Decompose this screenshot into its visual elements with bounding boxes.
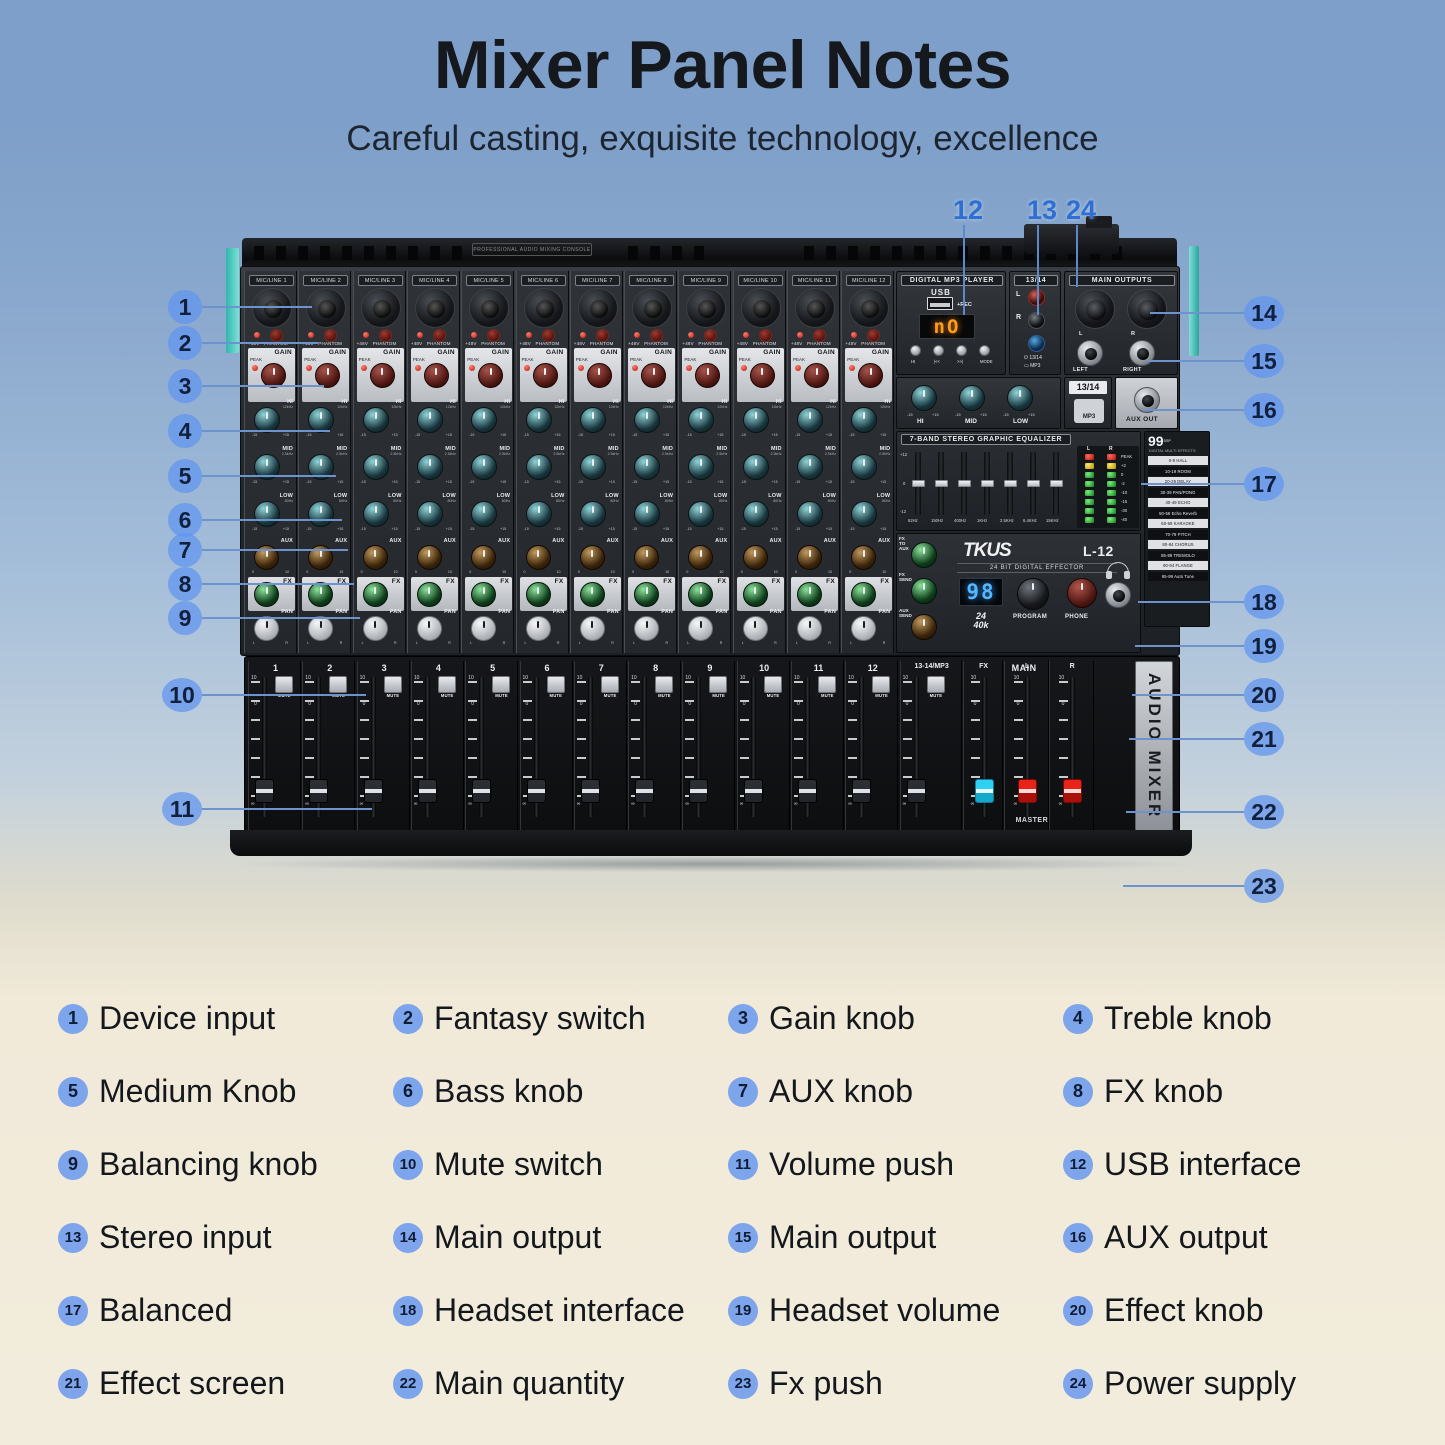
fader-channel-label: 9 xyxy=(683,663,736,673)
master-eq-mid-knob[interactable] xyxy=(959,385,985,411)
eq-hi-knob[interactable] xyxy=(417,407,443,433)
eq-low-knob[interactable] xyxy=(308,501,334,527)
knob-indicator-mark xyxy=(429,412,431,419)
pan-knob[interactable] xyxy=(851,616,876,641)
mute-switch[interactable] xyxy=(764,676,782,693)
gain-knob[interactable] xyxy=(695,363,720,388)
knob-indicator-mark xyxy=(863,587,865,594)
mp3-led-value: nO xyxy=(934,316,961,338)
fader-tick xyxy=(305,757,314,759)
fx-label: FX xyxy=(663,578,672,585)
fx-knob[interactable] xyxy=(308,582,333,607)
gain-knob[interactable] xyxy=(478,363,503,388)
channel-input-label: MIC/LINE 9 xyxy=(683,275,728,286)
mute-switch[interactable] xyxy=(818,676,836,693)
gain-knob[interactable] xyxy=(424,363,449,388)
eq-hi-knob[interactable] xyxy=(797,407,823,433)
mute-switch[interactable] xyxy=(601,676,619,693)
fader-scale-bottom: ∞ xyxy=(360,801,364,807)
combo-xlr-jack[interactable] xyxy=(415,288,455,328)
eq-band-slot xyxy=(1030,452,1036,515)
combo-xlr-jack[interactable] xyxy=(686,288,726,328)
vent-slot xyxy=(254,246,264,260)
effect-preset-item[interactable]: 80-84 CHORUS xyxy=(1148,540,1208,549)
fx-label: FX xyxy=(392,578,401,585)
eq-low-freq: 80Hz xyxy=(393,499,401,503)
vent-slot xyxy=(804,246,814,260)
peak-label: PEAK xyxy=(467,357,479,362)
master-eq-section: HI-15+15MID-15+15LOW-15+15 xyxy=(896,377,1061,429)
effect-preset-item[interactable]: 10-19 ROOM xyxy=(1148,467,1208,476)
eq-scale-max: +15 xyxy=(337,480,343,484)
fader-cap[interactable] xyxy=(635,779,654,803)
fader-cap[interactable] xyxy=(975,779,994,803)
trs-output-right[interactable] xyxy=(1129,340,1155,366)
gain-section: GAINPEAK060 xyxy=(682,348,729,402)
fader-cap[interactable] xyxy=(1018,779,1037,803)
fader-tick xyxy=(577,776,586,778)
channel-input-label: MIC/LINE 11 xyxy=(792,275,837,286)
eq-low-knob[interactable] xyxy=(634,501,660,527)
knob-indicator-mark xyxy=(923,583,925,590)
legend-label: Bass knob xyxy=(434,1073,583,1110)
pan-knob[interactable] xyxy=(308,616,333,641)
fader-scale-zero: 0 xyxy=(526,701,529,707)
fader-tick xyxy=(1014,681,1023,683)
knob-indicator-mark xyxy=(700,587,702,594)
eq-low-knob[interactable] xyxy=(851,501,877,527)
fader-tick xyxy=(1059,700,1068,702)
pan-knob[interactable] xyxy=(797,616,822,641)
mp3-button-1[interactable] xyxy=(933,345,944,356)
eq-band-fader-2[interactable] xyxy=(958,480,971,487)
fader-tick xyxy=(305,776,314,778)
list-item: 18Headset interface xyxy=(393,1292,728,1329)
eq-mid-knob[interactable] xyxy=(526,454,552,480)
usb-port[interactable] xyxy=(927,297,953,310)
mute-switch[interactable] xyxy=(329,676,347,693)
pan-knob[interactable] xyxy=(580,616,605,641)
knob-indicator-mark xyxy=(646,621,648,628)
fader-tick xyxy=(848,776,857,778)
channel-strip: MIC/LINE 10+48VPHANTOMGAINPEAK060HI12kHz… xyxy=(733,271,786,653)
callout-leader-line xyxy=(1129,738,1244,740)
fx-to-aux-knob[interactable] xyxy=(911,542,937,568)
gain-label: GAIN xyxy=(600,349,617,356)
eq-hi-knob[interactable] xyxy=(743,407,769,433)
stereo-input-section: 13/14LR⏻ 13/14▭ MP3 xyxy=(1009,271,1061,375)
source-mp3-label: ▭ MP3 xyxy=(1024,363,1040,369)
fx-knob[interactable] xyxy=(580,582,605,607)
eq-mid-knob[interactable] xyxy=(471,454,497,480)
gain-section: GAINPEAK060 xyxy=(845,348,892,402)
knob-indicator-mark xyxy=(429,506,431,513)
master-eq-hi-label: HI xyxy=(917,418,924,425)
eq-band-slot xyxy=(1007,452,1013,515)
vent-slot xyxy=(452,246,462,260)
pan-knob[interactable] xyxy=(743,616,768,641)
eq-low-freq: 80Hz xyxy=(719,499,727,503)
callout-leader-line xyxy=(1132,694,1244,696)
phone-volume-knob[interactable] xyxy=(1067,578,1097,608)
eq-hi-knob[interactable] xyxy=(580,407,606,433)
combo-xlr-jack[interactable] xyxy=(469,288,509,328)
effect-preset-item[interactable]: 90-94 FLANGE xyxy=(1148,561,1208,570)
mute-switch[interactable] xyxy=(492,676,510,693)
fader-tick xyxy=(848,738,857,740)
mp3-button-0[interactable] xyxy=(910,345,921,356)
knob-indicator-mark xyxy=(591,621,593,628)
pan-knob[interactable] xyxy=(526,616,551,641)
mute-label: MUTE xyxy=(821,693,834,698)
pan-label: PAN xyxy=(553,609,565,615)
fader-cap[interactable] xyxy=(1063,779,1082,803)
pan-knob[interactable] xyxy=(417,616,442,641)
combo-xlr-jack[interactable] xyxy=(795,288,835,328)
eq-band-fader-5[interactable] xyxy=(1027,480,1040,487)
eq-hi-knob[interactable] xyxy=(471,407,497,433)
fader-strip-ch3: 3MUTE100∞ xyxy=(357,661,410,831)
eq-mid-knob[interactable] xyxy=(363,454,389,480)
meter-scale-label: -30 xyxy=(1121,508,1127,513)
aux-knob[interactable] xyxy=(743,545,768,570)
fader-tick xyxy=(523,719,532,721)
eq-band-fader-6[interactable] xyxy=(1050,480,1063,487)
gain-knob[interactable] xyxy=(370,363,395,388)
fader-strip-ch11: 11MUTE100∞ xyxy=(791,661,844,831)
combo-xlr-jack[interactable] xyxy=(361,288,401,328)
gain-scale-max: 60 xyxy=(826,391,830,395)
source-select-button[interactable] xyxy=(1028,335,1045,352)
eq-hi-freq: 12kHz xyxy=(826,405,836,409)
effector-display: 98 xyxy=(959,578,1003,606)
effect-preset-item[interactable]: 40-49 ECHO xyxy=(1148,498,1208,507)
eq-hi-knob[interactable] xyxy=(688,407,714,433)
combo-xlr-jack[interactable] xyxy=(252,288,292,328)
eq-low-knob[interactable] xyxy=(417,501,443,527)
fx-knob[interactable] xyxy=(634,582,659,607)
fader-cap[interactable] xyxy=(309,779,328,803)
knob-indicator-mark xyxy=(646,587,648,594)
gain-knob[interactable] xyxy=(587,363,612,388)
combo-xlr-jack[interactable] xyxy=(632,288,672,328)
mp3-player-section: DIGITAL MP3 PLAYERUSB+RECnOHI|<<>>|MODE xyxy=(896,271,1006,375)
eq-scale-max: +15 xyxy=(554,480,560,484)
pan-knob[interactable] xyxy=(634,616,659,641)
legend-label: Medium Knob xyxy=(99,1073,296,1110)
eq-mid-knob[interactable] xyxy=(851,454,877,480)
master-eq-low-knob[interactable] xyxy=(1007,385,1033,411)
fader-tick xyxy=(971,757,980,759)
channel-input-label: MIC/LINE 7 xyxy=(575,275,620,286)
callout-leader-line xyxy=(1076,225,1078,287)
fader-cap[interactable] xyxy=(798,779,817,803)
fader-scale-bottom: ∞ xyxy=(848,801,852,807)
eq-scale-min: -15 xyxy=(524,480,529,484)
mute-switch[interactable] xyxy=(927,676,945,693)
fx-section: FX xyxy=(791,577,838,611)
tag-1314-label: 13/14 xyxy=(1069,381,1107,394)
fader-tick xyxy=(414,719,423,721)
eq-hi-knob[interactable] xyxy=(526,407,552,433)
eq-hi-freq: 12kHz xyxy=(337,405,347,409)
fx-knob[interactable] xyxy=(526,582,551,607)
aux-knob[interactable] xyxy=(580,545,605,570)
fader-cap[interactable] xyxy=(255,779,274,803)
eq-low-knob[interactable] xyxy=(471,501,497,527)
legend-label: Mute switch xyxy=(434,1146,603,1183)
fx-knob[interactable] xyxy=(363,582,388,607)
fader-scale-zero: 0 xyxy=(743,701,746,707)
fader-tick xyxy=(631,700,640,702)
eq-mid-freq: 2.5kHz xyxy=(608,452,619,456)
eq-low-knob[interactable] xyxy=(688,501,714,527)
fader-cap[interactable] xyxy=(744,779,763,803)
pan-knob[interactable] xyxy=(254,616,279,641)
fx-knob[interactable] xyxy=(688,582,713,607)
channel-strip: MIC/LINE 1+48VPHANTOMGAINPEAK060HI12kHz-… xyxy=(244,271,297,653)
xlr-output-right[interactable] xyxy=(1127,289,1167,329)
fx-knob[interactable] xyxy=(417,582,442,607)
headphone-jack[interactable] xyxy=(1105,582,1131,608)
aux-knob[interactable] xyxy=(417,545,442,570)
eq-scale-max: +15 xyxy=(880,480,886,484)
fader-tick xyxy=(685,776,694,778)
legend-badge-19: 19 xyxy=(728,1296,758,1326)
knob-indicator-mark xyxy=(1019,390,1021,397)
fader-channel-label: R xyxy=(1050,663,1095,670)
aux-knob[interactable] xyxy=(634,545,659,570)
channel-input-label: MIC/LINE 8 xyxy=(629,275,674,286)
effect-preset-item[interactable]: 70-79 PITCH xyxy=(1148,530,1208,539)
legend-badge-14: 14 xyxy=(393,1223,423,1253)
eq-scale-max: +15 xyxy=(446,527,452,531)
mute-label: MUTE xyxy=(712,693,725,698)
legend-label: Headset interface xyxy=(434,1292,685,1329)
gain-scale-max: 60 xyxy=(446,391,450,395)
eq-mid-knob[interactable] xyxy=(634,454,660,480)
master-eq-low-label: LOW xyxy=(1013,418,1028,425)
list-item: 15Main output xyxy=(728,1219,1063,1256)
xlr-output-left[interactable] xyxy=(1075,289,1115,329)
pan-left-label: L xyxy=(687,641,689,645)
trs-output-left[interactable] xyxy=(1077,340,1103,366)
eq-hi-freq: 12kHz xyxy=(554,405,564,409)
stereo-input-title: 13/14 xyxy=(1014,275,1058,286)
mp3-button-2[interactable] xyxy=(956,345,967,356)
aux-knob[interactable] xyxy=(526,545,551,570)
gain-knob[interactable] xyxy=(858,363,883,388)
eq-hi-knob[interactable] xyxy=(363,407,389,433)
fader-tick xyxy=(523,738,532,740)
legend-badge-12: 12 xyxy=(1063,1150,1093,1180)
eq-scale-min: -15 xyxy=(795,480,800,484)
eq-hi-knob[interactable] xyxy=(851,407,877,433)
phantom-48v-label: +48V xyxy=(628,341,639,346)
fader-strip-ch2: 2MUTE100∞ xyxy=(302,661,355,831)
combo-xlr-jack[interactable] xyxy=(306,288,346,328)
combo-xlr-jack[interactable] xyxy=(578,288,618,328)
fader-tick xyxy=(685,738,694,740)
combo-xlr-jack[interactable] xyxy=(524,288,564,328)
eq-scale-min: -15 xyxy=(632,433,637,437)
effect-preset-item[interactable]: 30-39 PAN/PONG xyxy=(1148,488,1208,497)
fx-knob[interactable] xyxy=(851,582,876,607)
fader-channel-label: 5 xyxy=(466,663,519,673)
master-eq-hi-knob[interactable] xyxy=(911,385,937,411)
eq-mid-freq: 2.5kHz xyxy=(716,452,727,456)
fader-cap[interactable] xyxy=(418,779,437,803)
aux-knob[interactable] xyxy=(363,545,388,570)
aux-send-knob[interactable] xyxy=(911,614,937,640)
fader-cap[interactable] xyxy=(364,779,383,803)
fader-cap[interactable] xyxy=(581,779,600,803)
fx-label: FX xyxy=(717,578,726,585)
fx-knob[interactable] xyxy=(254,582,279,607)
master-eq-scale-max: +15 xyxy=(980,412,987,417)
effect-preset-item[interactable]: 0-9 HALL xyxy=(1148,456,1208,465)
mute-switch[interactable] xyxy=(655,676,673,693)
callout-leader-line xyxy=(202,519,342,521)
peak-led xyxy=(632,365,638,371)
eq-low-knob[interactable] xyxy=(797,501,823,527)
gain-knob[interactable] xyxy=(804,363,829,388)
right-jack-label: RIGHT xyxy=(1123,367,1142,373)
eq-mid-freq: 2.5kHz xyxy=(771,452,782,456)
fader-tick xyxy=(468,738,477,740)
meter-channel-label: R xyxy=(1109,446,1113,452)
fader-scale-bottom: ∞ xyxy=(740,801,744,807)
eq-mid-knob[interactable] xyxy=(417,454,443,480)
aux-label: AUX xyxy=(281,538,293,544)
eq-low-knob[interactable] xyxy=(526,501,552,527)
mute-switch[interactable] xyxy=(438,676,456,693)
eq-low-knob[interactable] xyxy=(743,501,769,527)
legend-badge-17: 17 xyxy=(58,1296,88,1326)
peak-led xyxy=(361,365,367,371)
mute-switch[interactable] xyxy=(384,676,402,693)
eq-band-fader-4[interactable] xyxy=(1004,480,1017,487)
pan-knob[interactable] xyxy=(688,616,713,641)
fader-scale-zero: 0 xyxy=(906,701,909,707)
eq-mid-knob[interactable] xyxy=(688,454,714,480)
fader-cap[interactable] xyxy=(689,779,708,803)
eq-mid-knob[interactable] xyxy=(743,454,769,480)
legend-badge-8: 8 xyxy=(1063,1077,1093,1107)
eq-scale-max: +15 xyxy=(337,527,343,531)
aux-knob[interactable] xyxy=(471,545,496,570)
eq-mid-knob[interactable] xyxy=(797,454,823,480)
effect-preset-item[interactable]: 50-59 Echo Reverb xyxy=(1148,509,1208,518)
knob-indicator-mark xyxy=(591,587,593,594)
legend-badge-5: 5 xyxy=(58,1077,88,1107)
fader-cap[interactable] xyxy=(527,779,546,803)
vent-slot xyxy=(694,246,704,260)
peak-led xyxy=(306,365,312,371)
effect-preset-item[interactable]: 85-89 TREMOLO xyxy=(1148,551,1208,560)
fx-send-knob[interactable] xyxy=(911,578,937,604)
gain-scale-min: 0 xyxy=(475,391,477,395)
combo-xlr-jack[interactable] xyxy=(741,288,781,328)
fader-cap[interactable] xyxy=(907,779,926,803)
knob-indicator-mark xyxy=(755,412,757,419)
fx-knob[interactable] xyxy=(471,582,496,607)
mute-switch[interactable] xyxy=(275,676,293,693)
fader-cap[interactable] xyxy=(472,779,491,803)
fader-tick xyxy=(1014,700,1023,702)
phone-label: PHONE xyxy=(1065,614,1088,620)
fader-cap[interactable] xyxy=(852,779,871,803)
fader-tick xyxy=(685,681,694,683)
pan-label: PAN xyxy=(335,609,347,615)
gain-scale-max: 60 xyxy=(772,391,776,395)
fx-knob[interactable] xyxy=(743,582,768,607)
meter-led-left xyxy=(1085,454,1094,460)
gain-scale-max: 60 xyxy=(717,391,721,395)
eq-band-fader-3[interactable] xyxy=(981,480,994,487)
knob-indicator-mark xyxy=(374,621,376,628)
fader-tick xyxy=(1014,719,1023,721)
mute-switch[interactable] xyxy=(872,676,890,693)
knob-indicator-mark xyxy=(755,459,757,466)
fx-knob[interactable] xyxy=(797,582,822,607)
aux-knob[interactable] xyxy=(797,545,822,570)
combo-xlr-jack[interactable] xyxy=(849,288,889,328)
eq-scale-min: -15 xyxy=(632,480,637,484)
mp3-button-3[interactable] xyxy=(979,345,990,356)
eq-low-knob[interactable] xyxy=(580,501,606,527)
eq-mid-knob[interactable] xyxy=(580,454,606,480)
fader-tick xyxy=(305,738,314,740)
effect-preset-item[interactable]: 60-69 KARAOKE xyxy=(1148,519,1208,528)
program-knob[interactable] xyxy=(1017,578,1049,610)
eq-band-fader-0[interactable] xyxy=(912,480,925,487)
knob-indicator-mark xyxy=(374,587,376,594)
mute-label: MUTE xyxy=(658,693,671,698)
chassis-base xyxy=(230,830,1192,856)
eq-hi-knob[interactable] xyxy=(634,407,660,433)
pan-knob[interactable] xyxy=(471,616,496,641)
effect-preset-item[interactable]: 95-99 Auto Tune xyxy=(1148,572,1208,581)
mute-switch[interactable] xyxy=(709,676,727,693)
gain-label: GAIN xyxy=(872,349,889,356)
fader-scale-zero: 0 xyxy=(688,701,691,707)
mp3-source-tag: 13/14MP3 xyxy=(1064,377,1112,429)
legend-label: USB interface xyxy=(1104,1146,1301,1183)
gain-knob[interactable] xyxy=(750,363,775,388)
mute-switch[interactable] xyxy=(547,676,565,693)
eq-low-freq: 80Hz xyxy=(339,499,347,503)
gain-label: GAIN xyxy=(383,349,400,356)
knob-indicator-mark xyxy=(923,547,925,554)
meter-led-right xyxy=(1107,499,1116,505)
pan-knob[interactable] xyxy=(363,616,388,641)
aux-knob[interactable] xyxy=(851,545,876,570)
eq-low-freq: 80Hz xyxy=(882,499,890,503)
meter-scale-label: +2 xyxy=(1121,463,1126,468)
aux-knob[interactable] xyxy=(688,545,713,570)
vent-slot xyxy=(298,246,308,260)
pan-label: PAN xyxy=(716,609,728,615)
side-branding: AUDIO MIXER xyxy=(1135,661,1173,831)
eq-band-fader-1[interactable] xyxy=(935,480,948,487)
gain-knob[interactable] xyxy=(641,363,666,388)
gain-scale-min: 0 xyxy=(747,391,749,395)
eq-scale-max: +15 xyxy=(772,480,778,484)
eq-low-knob[interactable] xyxy=(363,501,389,527)
eq-low-knob[interactable] xyxy=(254,501,280,527)
gain-knob[interactable] xyxy=(533,363,558,388)
